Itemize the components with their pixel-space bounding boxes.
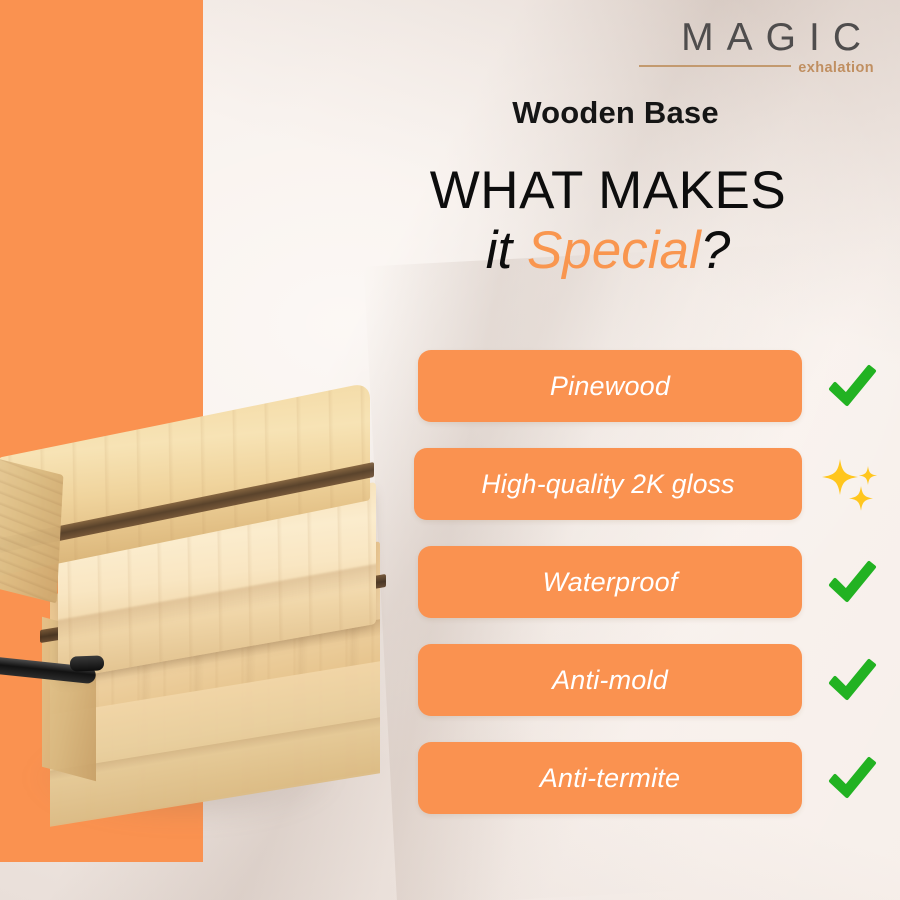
- feature-label: Waterproof: [542, 567, 677, 598]
- feature-pill[interactable]: Anti-termite: [418, 742, 802, 814]
- power-cord-entry: [70, 655, 105, 671]
- feature-pill[interactable]: High-quality 2K gloss: [414, 448, 802, 520]
- feature-pill[interactable]: Waterproof: [418, 546, 802, 618]
- headline-line-1: WHAT MAKES: [393, 163, 823, 219]
- feature-item[interactable]: High-quality 2K gloss: [418, 448, 888, 520]
- feature-label: Anti-mold: [552, 665, 668, 696]
- brand-tagline-row: exhalation: [639, 60, 874, 76]
- brand-tagline: exhalation: [798, 60, 874, 76]
- headline-line-2-suffix: ?: [701, 221, 730, 280]
- brand-name: MAGIC: [639, 18, 874, 58]
- brand-logo: MAGIC exhalation: [639, 18, 874, 76]
- feature-pill[interactable]: Anti-mold: [418, 644, 802, 716]
- check-icon: [816, 350, 888, 422]
- feature-item[interactable]: Anti-mold: [418, 644, 888, 716]
- check-icon: [816, 546, 888, 618]
- feature-item[interactable]: Waterproof: [418, 546, 888, 618]
- headline-line-2: it Special?: [393, 221, 823, 280]
- headline-line-2-accent: Special: [527, 221, 701, 280]
- feature-item[interactable]: Pinewood: [418, 350, 888, 422]
- feature-label: Pinewood: [550, 371, 670, 402]
- feature-label: High-quality 2K gloss: [481, 469, 734, 500]
- page-title: WHAT MAKES it Special?: [393, 163, 823, 280]
- check-icon: [816, 644, 888, 716]
- page-subtitle: Wooden Base: [423, 95, 808, 131]
- feature-list: Pinewood High-quality 2K gloss: [418, 350, 888, 814]
- product-image-wooden-base: [0, 388, 402, 858]
- feature-label: Anti-termite: [540, 763, 680, 794]
- headline-line-2-prefix: it: [486, 221, 527, 280]
- feature-item[interactable]: Anti-termite: [418, 742, 888, 814]
- poster-canvas: MAGIC exhalation Wooden Base WHAT MAKES …: [0, 0, 900, 900]
- feature-pill[interactable]: Pinewood: [418, 350, 802, 422]
- check-icon: [816, 742, 888, 814]
- logo-divider-rule: [639, 65, 791, 67]
- wood-top-end-grain: [0, 459, 63, 604]
- sparkles-icon: [816, 448, 888, 520]
